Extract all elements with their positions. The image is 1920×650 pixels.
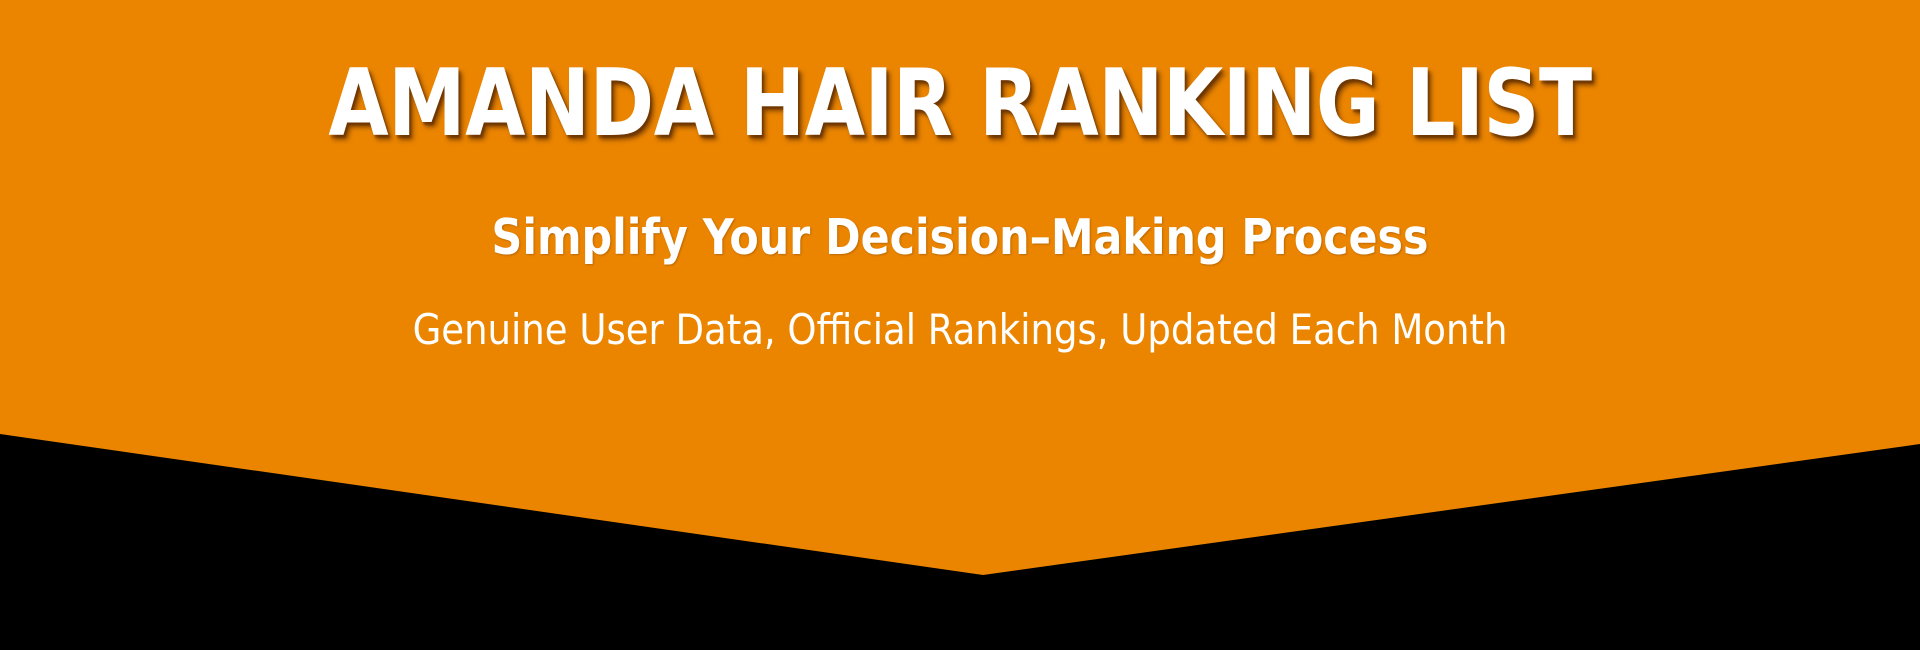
hero-subtitle: Simplify Your Decision–Making Process bbox=[29, 213, 1891, 262]
hero-banner-screenshot: AMANDA HAIR RANKING LIST Simplify Your D… bbox=[0, 0, 1920, 650]
hero-text-block: AMANDA HAIR RANKING LIST Simplify Your D… bbox=[0, 0, 1920, 440]
page-title: AMANDA HAIR RANKING LIST bbox=[67, 57, 1853, 150]
hero-tagline: Genuine User Data, Official Rankings, Up… bbox=[19, 309, 1901, 351]
